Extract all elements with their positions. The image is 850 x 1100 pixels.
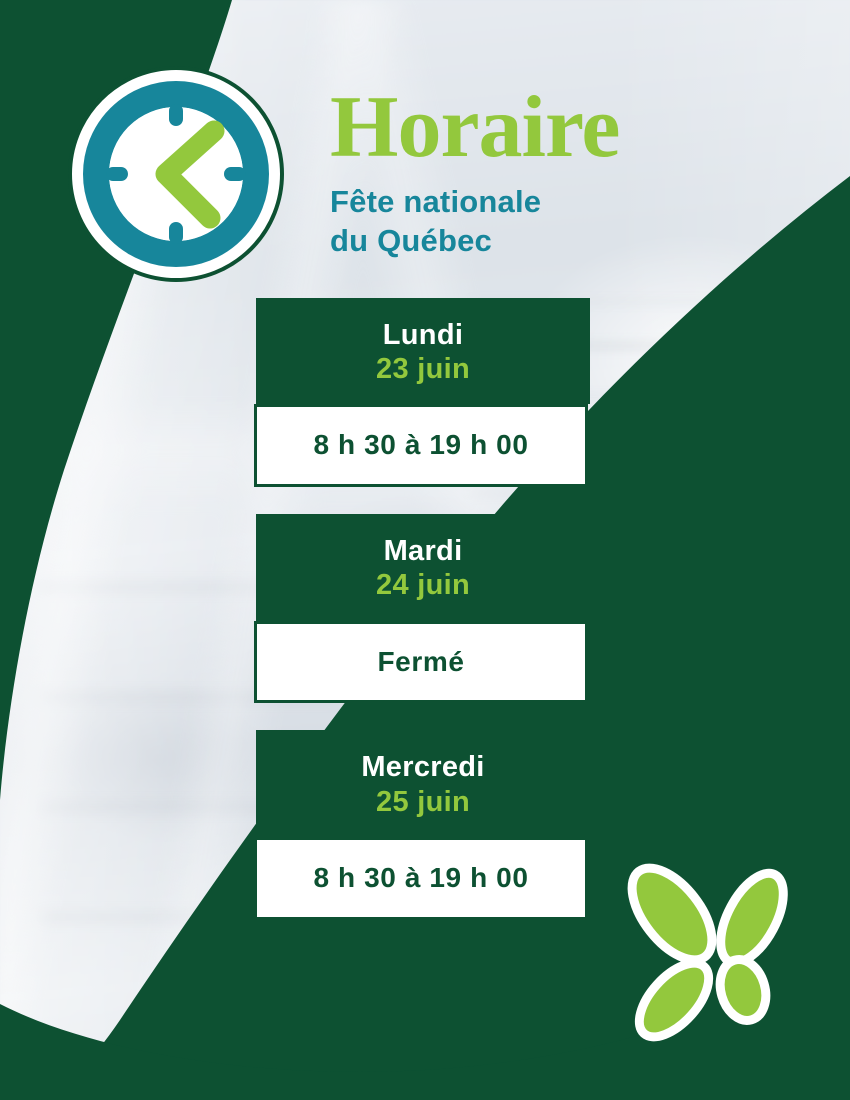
title-block: Horaire Fête nationale du Québec — [330, 86, 780, 261]
page-title: Horaire — [330, 86, 780, 170]
day-name: Mardi — [266, 534, 580, 568]
day-card-body: 8 h 30 à 19 h 00 — [254, 404, 588, 487]
clock-badge — [68, 66, 284, 282]
day-name: Lundi — [266, 318, 580, 352]
day-card-body: Fermé — [254, 621, 588, 704]
schedule-poster: Horaire Fête nationale du Québec Lundi 2… — [0, 0, 850, 1100]
day-card-body: 8 h 30 à 19 h 00 — [254, 837, 588, 920]
page-subtitle: Fête nationale du Québec — [330, 182, 780, 261]
day-card-header: Mardi 24 juin — [256, 514, 590, 620]
day-card-mercredi: Mercredi 25 juin 8 h 30 à 19 h 00 — [256, 730, 590, 919]
day-card-mardi: Mardi 24 juin Fermé — [256, 514, 590, 703]
day-hours: Fermé — [265, 647, 577, 678]
day-hours: 8 h 30 à 19 h 00 — [265, 430, 577, 461]
butterfly-logo-icon — [612, 856, 812, 1056]
schedule-list: Lundi 23 juin 8 h 30 à 19 h 00 Mardi 24 … — [256, 298, 590, 920]
subtitle-line-1: Fête nationale — [330, 182, 780, 222]
butterfly-logo — [612, 856, 812, 1056]
day-card-header: Mercredi 25 juin — [256, 730, 590, 836]
day-card-header: Lundi 23 juin — [256, 298, 590, 404]
day-date: 24 juin — [266, 568, 580, 602]
day-date: 25 juin — [266, 785, 580, 819]
day-name: Mercredi — [266, 750, 580, 784]
day-date: 23 juin — [266, 352, 580, 386]
subtitle-line-2: du Québec — [330, 221, 780, 261]
clock-icon — [68, 66, 284, 282]
day-hours: 8 h 30 à 19 h 00 — [265, 863, 577, 894]
day-card-lundi: Lundi 23 juin 8 h 30 à 19 h 00 — [256, 298, 590, 487]
